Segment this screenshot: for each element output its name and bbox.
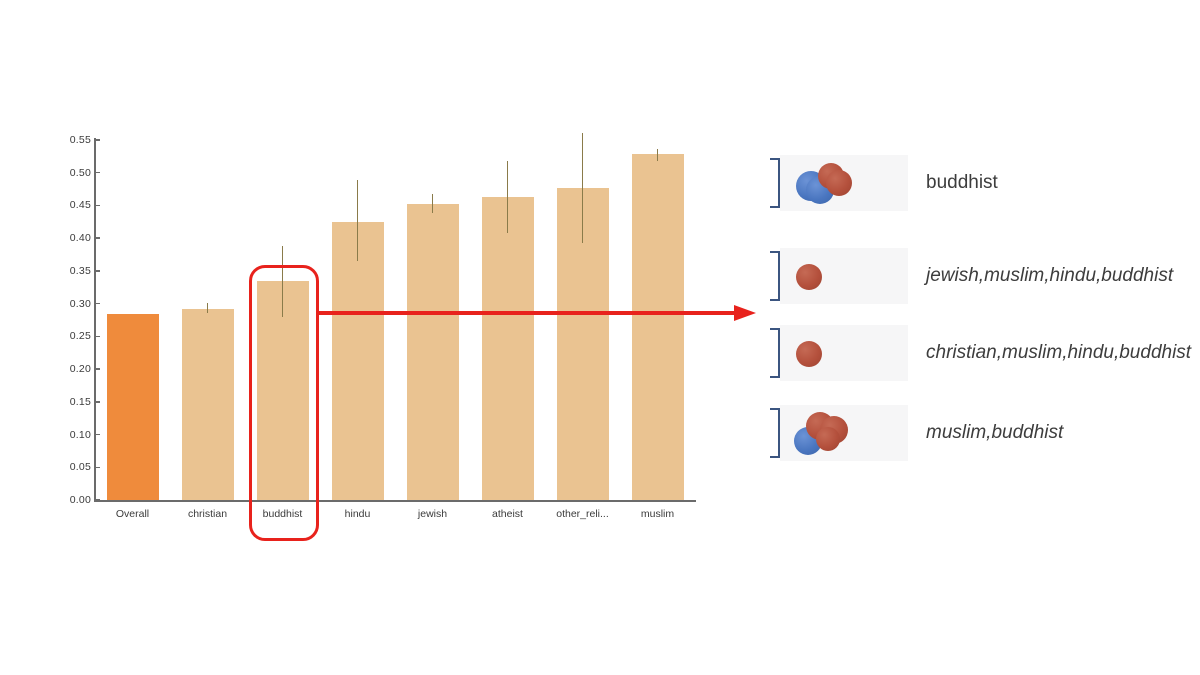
y-axis-tick-mark <box>95 336 100 338</box>
red-blob-icon <box>796 341 822 367</box>
y-axis-tick: 0.50 <box>70 167 95 179</box>
bar-overall[interactable] <box>107 314 159 500</box>
y-axis-tick-mark <box>95 368 100 370</box>
error-bar <box>432 194 434 213</box>
x-axis-label-overall: Overall <box>116 508 149 520</box>
y-axis-tick-mark <box>95 237 100 239</box>
y-axis-tick: 0.05 <box>70 461 95 473</box>
y-axis-tick-mark <box>95 401 100 403</box>
y-axis-tick-mark <box>95 139 100 141</box>
bracket-icon <box>770 251 780 301</box>
error-bar <box>657 149 659 161</box>
legend-item[interactable]: christian,muslim,hindu,buddhist <box>770 320 1190 385</box>
legend-item[interactable]: muslim,buddhist <box>770 400 1190 465</box>
y-axis-tick-label: 0.05 <box>70 461 95 473</box>
bracket-icon <box>770 158 780 208</box>
y-axis-tick-label: 0.50 <box>70 167 95 179</box>
y-axis-tick-label: 0.30 <box>70 298 95 310</box>
y-axis-tick: 0.25 <box>70 330 95 342</box>
legend-item-label: christian,muslim,hindu,buddhist <box>926 342 1191 364</box>
cluster-thumbnail <box>780 405 908 461</box>
cluster-thumbnail <box>780 325 908 381</box>
buddhist-highlight-box <box>249 265 319 541</box>
bar-hindu[interactable] <box>332 222 384 500</box>
bar-jewish[interactable] <box>407 204 459 500</box>
y-axis-tick-label: 0.00 <box>70 494 95 506</box>
cluster-legend-panel: buddhistjewish,muslim,hindu,buddhistchri… <box>770 0 1200 675</box>
y-axis-tick-label: 0.45 <box>70 199 95 211</box>
bar-atheist[interactable] <box>482 197 534 500</box>
y-axis-tick-label: 0.35 <box>70 265 95 277</box>
bar-christian[interactable] <box>182 309 234 500</box>
bar-muslim[interactable] <box>632 154 684 500</box>
cluster-thumbnail <box>780 248 908 304</box>
callout-arrow-icon <box>316 305 756 321</box>
x-axis-label-christian: christian <box>188 508 227 520</box>
x-axis-label-hindu: hindu <box>345 508 371 520</box>
y-axis-tick-mark <box>95 270 100 272</box>
y-axis-tick-mark <box>95 467 100 469</box>
y-axis-tick: 0.20 <box>70 363 95 375</box>
red-blob-icon <box>796 264 822 290</box>
error-bar <box>357 180 359 261</box>
red-blob-icon <box>816 427 840 451</box>
y-axis-tick: 0.15 <box>70 396 95 408</box>
error-bar <box>582 133 584 242</box>
y-axis-tick: 0.45 <box>70 199 95 211</box>
legend-item[interactable]: jewish,muslim,hindu,buddhist <box>770 243 1190 308</box>
y-axis-tick-label: 0.55 <box>70 134 95 146</box>
y-axis-tick-mark <box>95 172 100 174</box>
legend-item-label: buddhist <box>926 172 998 194</box>
x-axis-label-other-reli-: other_reli... <box>556 508 609 520</box>
x-axis-label-atheist: atheist <box>492 508 523 520</box>
y-axis-tick-mark <box>95 303 100 305</box>
cluster-thumbnail <box>780 155 908 211</box>
y-axis-tick-mark <box>95 205 100 207</box>
y-axis-tick: 0.40 <box>70 232 95 244</box>
bracket-icon <box>770 328 780 378</box>
error-bar <box>507 161 509 233</box>
x-axis-line <box>94 500 696 502</box>
bracket-icon <box>770 408 780 458</box>
y-axis-tick: 0.10 <box>70 429 95 441</box>
y-axis-tick-label: 0.25 <box>70 330 95 342</box>
y-axis-tick-mark <box>95 499 100 501</box>
y-axis-tick-label: 0.15 <box>70 396 95 408</box>
red-blob-icon <box>826 170 852 196</box>
x-axis-label-muslim: muslim <box>641 508 674 520</box>
error-bar <box>207 303 209 313</box>
y-axis-tick: 0.30 <box>70 298 95 310</box>
y-axis-tick-label: 0.10 <box>70 429 95 441</box>
y-axis-tick-mark <box>95 434 100 436</box>
bar-chart-panel: 0.000.050.100.150.200.250.300.350.400.45… <box>0 0 760 675</box>
y-axis-tick-label: 0.20 <box>70 363 95 375</box>
legend-item-label: jewish,muslim,hindu,buddhist <box>926 265 1173 287</box>
legend-item[interactable]: buddhist <box>770 150 1190 215</box>
y-axis-tick-label: 0.40 <box>70 232 95 244</box>
x-axis-label-jewish: jewish <box>418 508 447 520</box>
y-axis-tick: 0.35 <box>70 265 95 277</box>
y-axis-tick: 0.00 <box>70 494 95 506</box>
y-axis-tick: 0.55 <box>70 134 95 146</box>
legend-item-label: muslim,buddhist <box>926 422 1063 444</box>
